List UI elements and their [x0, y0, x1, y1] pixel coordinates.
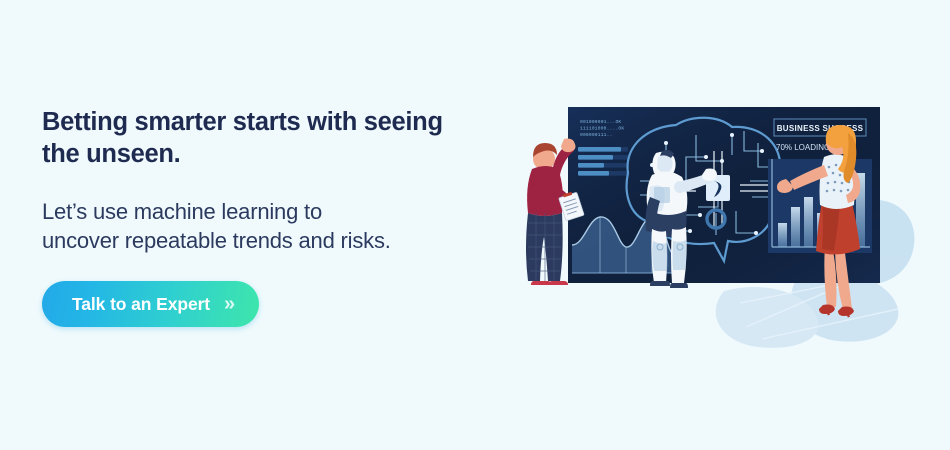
page-title: Betting smarter starts with seeing the u… [42, 106, 522, 170]
double-chevron-right-icon: » [224, 294, 233, 314]
banner-copy: Betting smarter starts with seeing the u… [42, 106, 522, 255]
talk-to-an-expert-button[interactable]: Talk to an Expert » [42, 281, 259, 327]
cta-container: Talk to an Expert » [42, 281, 259, 327]
cta-label: Talk to an Expert [72, 294, 210, 315]
code-line-2: 111101000....OK [580, 126, 624, 132]
promo-banner: Betting smarter starts with seeing the u… [0, 0, 950, 450]
code-line-1: 001000001...OK [580, 119, 621, 125]
illustration: 001000001...OK 111101000....OK 000000111… [500, 95, 920, 355]
subheading: Let’s use machine learning to uncover re… [42, 198, 522, 255]
code-line-3: 000000111.. [580, 132, 613, 138]
